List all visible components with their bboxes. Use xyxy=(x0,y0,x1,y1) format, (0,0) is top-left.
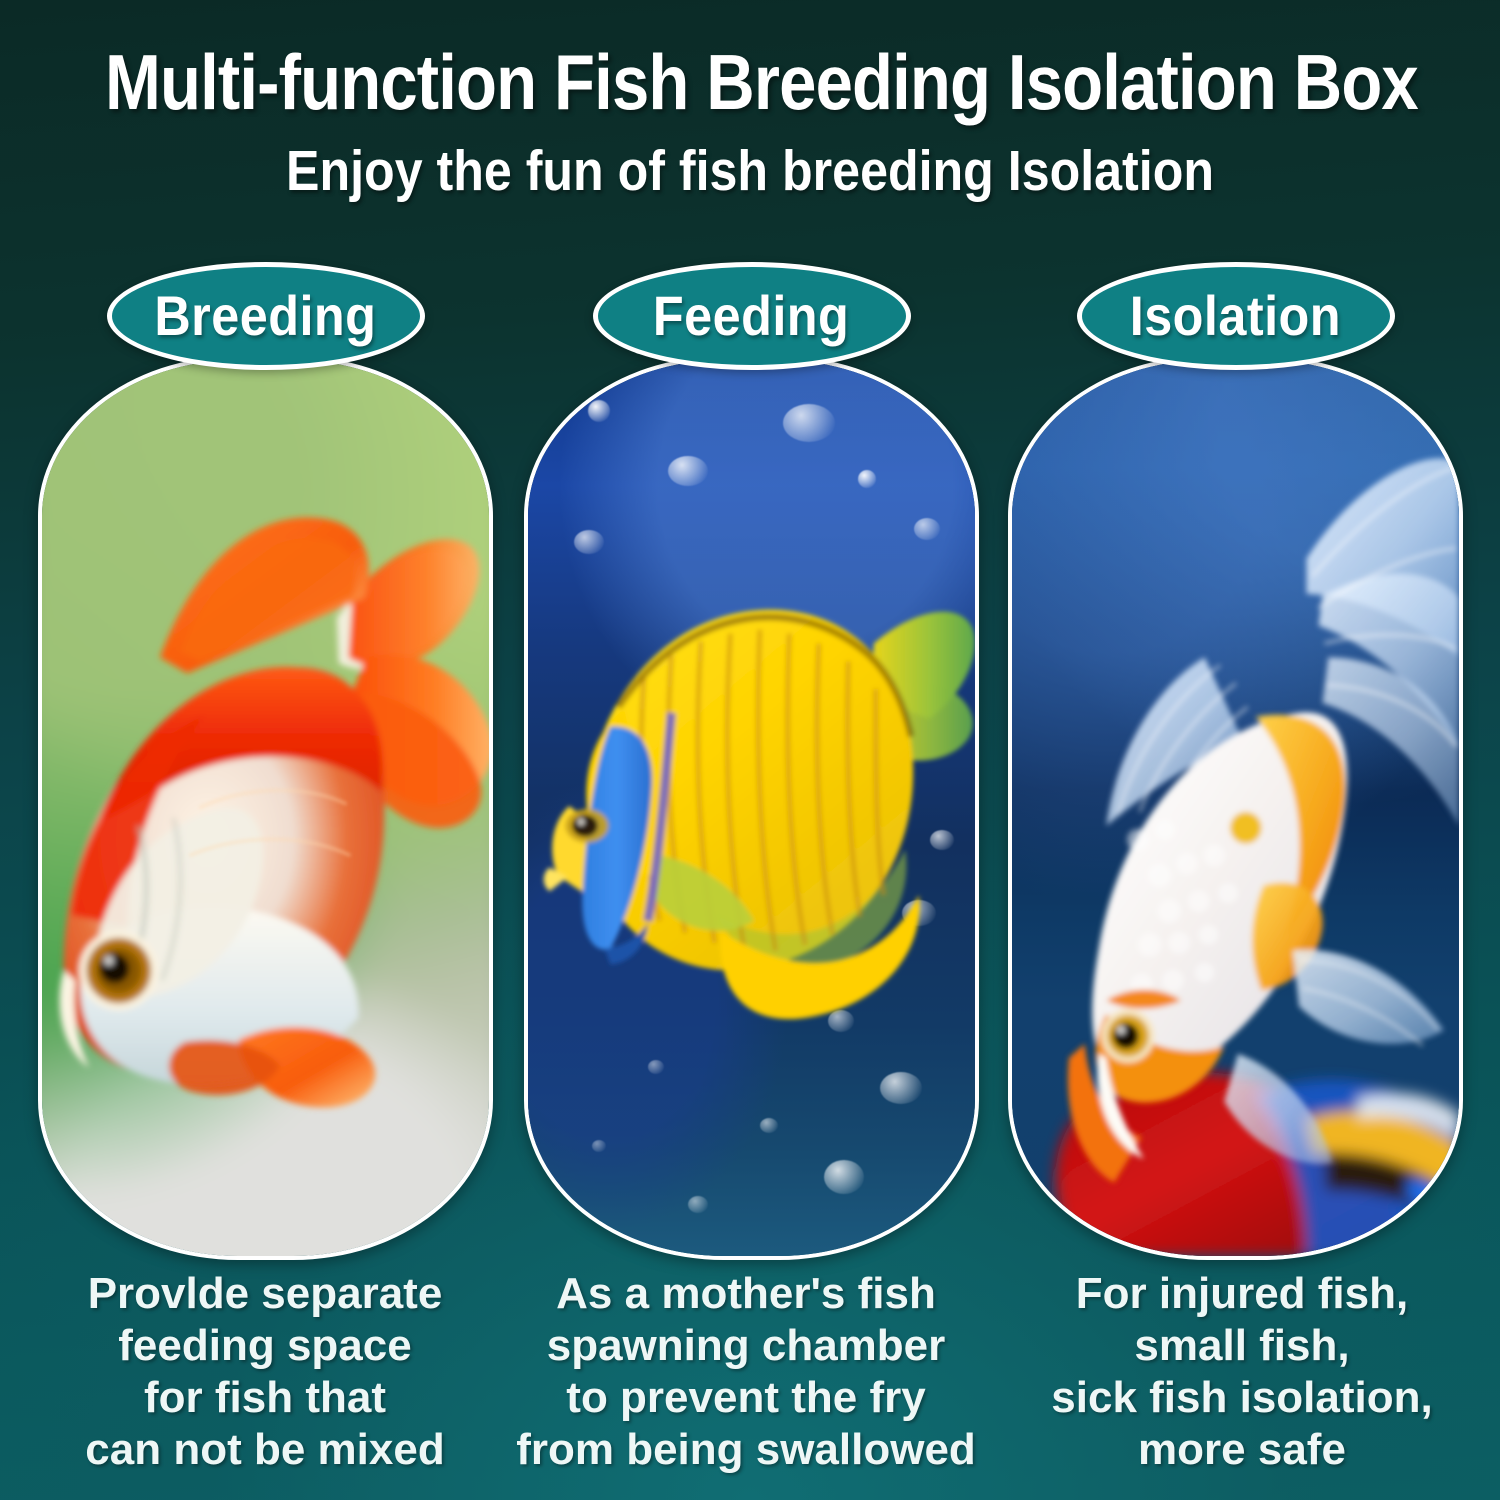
badge-isolation[interactable]: Isolation xyxy=(1077,262,1395,370)
caption-line: As a mother's fish xyxy=(511,1268,981,1320)
red-white-goldfish-icon xyxy=(42,360,489,1256)
caption-line: for fish that xyxy=(30,1372,500,1424)
white-orange-fantail-goldfish-icon xyxy=(1012,360,1459,1256)
isolation-photo-frame xyxy=(1008,356,1463,1260)
caption-line: feeding space xyxy=(30,1320,500,1372)
page-subtitle: Enjoy the fun of fish breeding Isolation xyxy=(90,140,1410,202)
caption-breeding: Provlde separate feeding space for fish … xyxy=(30,1268,500,1476)
feature-panel-breeding: Breeding xyxy=(38,300,493,1260)
feeding-photo-frame xyxy=(524,356,979,1260)
caption-line: from being swallowed xyxy=(511,1424,981,1476)
caption-line: more safe xyxy=(1007,1424,1477,1476)
badge-feeding[interactable]: Feeding xyxy=(593,262,911,370)
badge-breeding[interactable]: Breeding xyxy=(107,262,425,370)
product-infographic: Multi-function Fish Breeding Isolation B… xyxy=(0,0,1500,1500)
badge-feeding-label: Feeding xyxy=(653,288,849,344)
yellow-butterflyfish-icon xyxy=(528,360,975,1256)
feature-panel-isolation: Isolation xyxy=(1008,300,1463,1260)
caption-line: For injured fish, xyxy=(1007,1268,1477,1320)
caption-line: small fish, xyxy=(1007,1320,1477,1372)
caption-line: sick fish isolation, xyxy=(1007,1372,1477,1424)
caption-line: spawning chamber xyxy=(511,1320,981,1372)
badge-breeding-label: Breeding xyxy=(154,288,376,344)
feature-panels: Breeding xyxy=(0,300,1500,1300)
caption-line: can not be mixed xyxy=(30,1424,500,1476)
caption-feeding: As a mother's fish spawning chamber to p… xyxy=(511,1268,981,1476)
badge-isolation-label: Isolation xyxy=(1130,288,1341,344)
caption-line: to prevent the fry xyxy=(511,1372,981,1424)
breeding-photo-frame xyxy=(38,356,493,1260)
page-title: Multi-function Fish Breeding Isolation B… xyxy=(105,40,1395,124)
caption-isolation: For injured fish, small fish, sick fish … xyxy=(1007,1268,1477,1476)
caption-line: Provlde separate xyxy=(30,1268,500,1320)
feature-panel-feeding: Feeding xyxy=(524,300,979,1260)
